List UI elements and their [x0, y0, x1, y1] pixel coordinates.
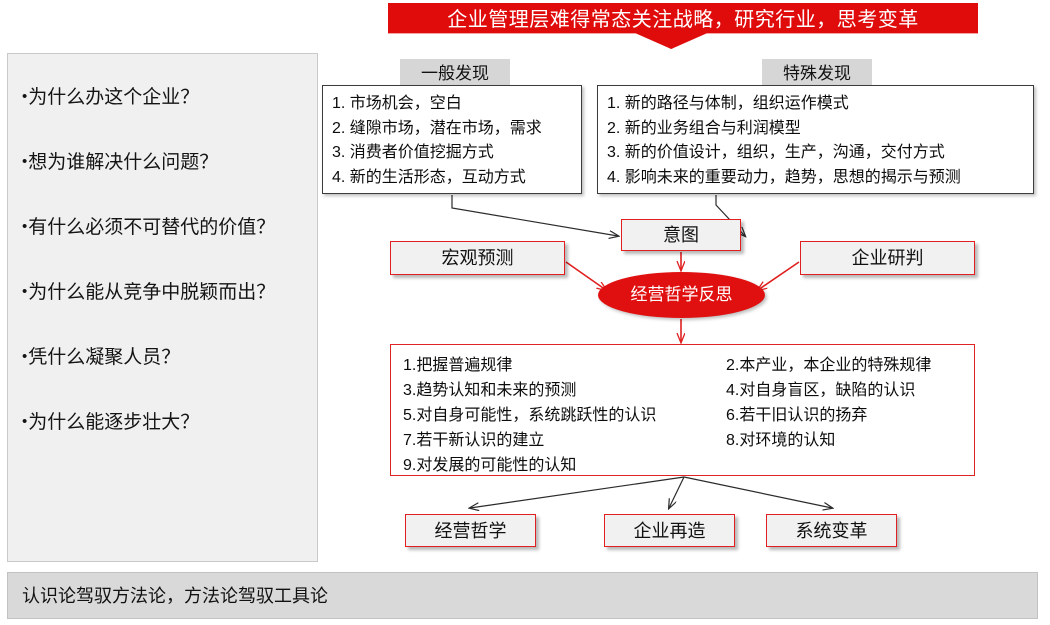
finding-line: 2. 缝隙市场，潜在市场，需求	[332, 117, 572, 142]
question-text: 凭什么凝聚人员？	[28, 347, 180, 368]
question-text: 想为谁解决什么问题？	[28, 152, 218, 173]
cognition-item: 2.本产业，本企业的特殊规律	[726, 353, 931, 378]
finding-line: 3. 消费者价值挖掘方式	[332, 141, 572, 166]
outcome-label: 经营哲学	[435, 519, 507, 543]
node-intent-label: 意图	[663, 223, 699, 247]
finding-line: 4. 影响未来的重要动力，趋势，思想的揭示与预测	[607, 166, 1024, 191]
cognition-item: 4.对自身盲区，缺陷的认识	[726, 378, 931, 403]
general-findings-box: 1. 市场机会，空白 2. 缝隙市场，潜在市场，需求 3. 消费者价值挖掘方式 …	[322, 85, 582, 194]
question-item: •为什么能逐步壮大？	[22, 409, 303, 436]
question-text: 为什么能逐步壮大？	[28, 412, 199, 433]
finding-line: 4. 新的生活形态，互动方式	[332, 166, 572, 191]
cognition-item: 6.若干旧认识的扬弃	[726, 403, 931, 428]
bullet-icon: •	[22, 218, 27, 235]
cognition-left-column: 1.把握普遍规律 3.趋势认知和未来的预测 5.对自身可能性，系统跳跃性的认识 …	[403, 353, 656, 478]
bullet-icon: •	[22, 283, 27, 300]
question-text: 为什么办这个企业？	[28, 87, 199, 108]
questions-panel: •为什么办这个企业？ •想为谁解决什么问题？ •有什么必须不可替代的价值？ •为…	[7, 53, 318, 562]
special-findings-box: 1. 新的路径与体制，组织运作模式 2. 新的业务组合与利润模型 3. 新的价值…	[597, 85, 1034, 194]
arrow-enterprise-to-ellipse	[758, 262, 799, 290]
question-item: •想为谁解决什么问题？	[22, 149, 303, 176]
slide-canvas: 企业管理层难得常态关注战略，研究行业，思考变革 •为什么办这个企业？ •想为谁解…	[0, 0, 1050, 625]
outcome-business-philosophy: 经营哲学	[405, 514, 536, 547]
cognition-item: 3.趋势认知和未来的预测	[403, 378, 656, 403]
node-enterprise-analysis: 企业研判	[800, 241, 975, 275]
bullet-icon: •	[22, 153, 27, 170]
finding-line: 1. 市场机会，空白	[332, 92, 572, 117]
footer-text: 认识论驾驭方法论，方法论驾驭工具论	[22, 583, 328, 609]
question-item: •凭什么凝聚人员？	[22, 344, 303, 371]
title-banner: 企业管理层难得常态关注战略，研究行业，思考变革	[388, 3, 978, 49]
cognition-item: 9.对发展的可能性的认知	[403, 453, 656, 478]
bullet-icon: •	[22, 348, 27, 365]
question-item: •有什么必须不可替代的价值？	[22, 214, 303, 241]
node-macro-forecast-label: 宏观预测	[442, 246, 514, 270]
node-core-ellipse-label: 经营哲学反思	[631, 284, 733, 306]
cognition-right-column: 2.本产业，本企业的特殊规律 4.对自身盲区，缺陷的认识 6.若干旧认识的扬弃 …	[726, 353, 931, 453]
cognition-item: 8.对环境的认知	[726, 428, 931, 453]
finding-line: 2. 新的业务组合与利润模型	[607, 117, 1024, 142]
arrow-macro-to-ellipse	[566, 262, 606, 290]
bullet-icon: •	[22, 413, 27, 430]
cognition-item: 5.对自身可能性，系统跳跃性的认识	[403, 403, 656, 428]
node-intent: 意图	[621, 219, 741, 251]
outcome-enterprise-reengineering: 企业再造	[604, 514, 735, 547]
arrow-cognition-to-reengineer	[669, 477, 684, 508]
bullet-icon: •	[22, 88, 27, 105]
arrow-cognition-to-philosophy	[470, 477, 684, 508]
cognition-item: 1.把握普遍规律	[403, 353, 656, 378]
node-enterprise-analysis-label: 企业研判	[852, 246, 924, 270]
title-banner-text: 企业管理层难得常态关注战略，研究行业，思考变革	[447, 3, 919, 35]
outcome-label: 企业再造	[634, 519, 706, 543]
finding-line: 3. 新的价值设计，组织，生产，沟通，交付方式	[607, 141, 1024, 166]
question-text: 为什么能从竞争中脱颖而出？	[28, 282, 275, 303]
cognition-list-box: 1.把握普遍规律 3.趋势认知和未来的预测 5.对自身可能性，系统跳跃性的认识 …	[390, 344, 975, 476]
arrow-cognition-to-systemchange	[684, 477, 832, 508]
node-macro-forecast: 宏观预测	[390, 241, 565, 275]
finding-line: 1. 新的路径与体制，组织运作模式	[607, 92, 1024, 117]
outcome-system-change: 系统变革	[766, 514, 897, 547]
question-text: 有什么必须不可替代的价值？	[28, 217, 275, 238]
outcome-label: 系统变革	[796, 519, 868, 543]
node-core-ellipse: 经营哲学反思	[598, 272, 765, 318]
question-item: •为什么办这个企业？	[22, 84, 303, 111]
question-item: •为什么能从竞争中脱颖而出？	[22, 279, 303, 306]
arrow-general-to-intent	[452, 195, 618, 236]
footer-bar: 认识论驾驭方法论，方法论驾驭工具论	[7, 572, 1038, 619]
cognition-item: 7.若干新认识的建立	[403, 428, 656, 453]
